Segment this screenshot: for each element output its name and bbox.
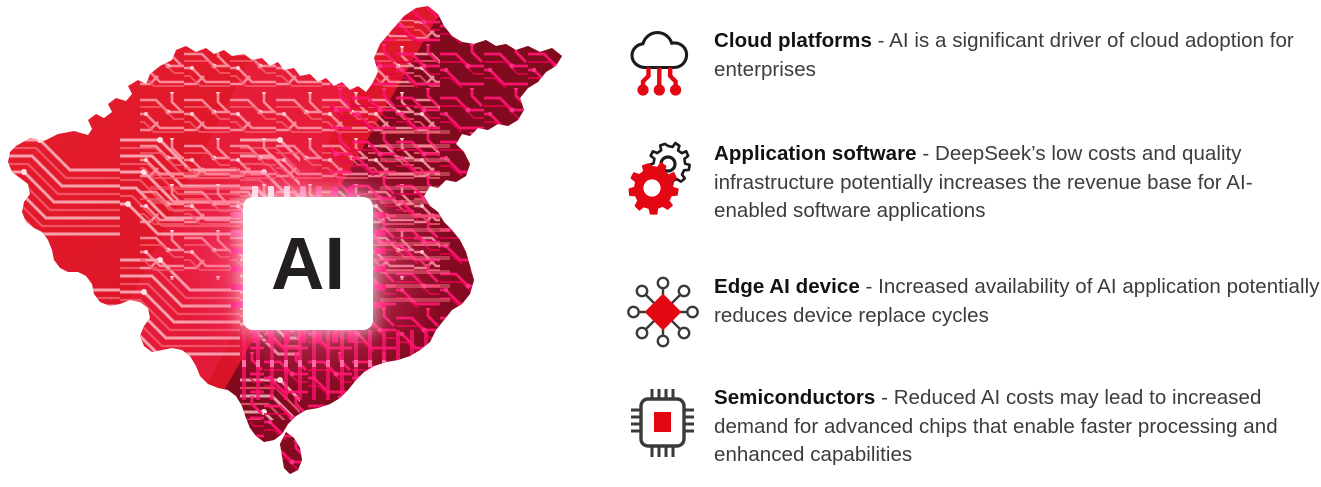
edge-node-diamond-icon: [624, 274, 702, 350]
microchip-icon-wrap: [612, 383, 714, 461]
list-item-application-software: Application software - DeepSeek’s low co…: [612, 139, 1321, 226]
list-item-semiconductors: Semiconductors - Reduced AI costs may le…: [612, 383, 1321, 470]
cloud-network-icon-wrap: [612, 26, 714, 101]
list-item-separator: -: [860, 275, 878, 298]
gears-icon: [622, 140, 704, 218]
list-item-text: Semiconductors - Reduced AI costs may le…: [714, 383, 1321, 470]
list-item-separator: -: [875, 386, 893, 409]
list-item-text: Cloud platforms - AI is a significant dr…: [714, 26, 1321, 84]
edge-node-diamond-icon-wrap: [612, 272, 714, 350]
list-item-separator: -: [872, 29, 889, 52]
list-item-separator: -: [917, 142, 935, 165]
slide-root: AI: [0, 0, 1321, 487]
ai-chip-badge: AI: [243, 197, 373, 330]
gears-icon-wrap: [612, 139, 714, 218]
list-item-title: Application software: [714, 142, 917, 165]
list-item-edge-ai-device: Edge AI device - Increased availability …: [612, 272, 1321, 350]
list-item-cloud-platforms: Cloud platforms - AI is a significant dr…: [612, 26, 1321, 101]
list-item-text: Application software - DeepSeek’s low co…: [714, 139, 1321, 226]
china-ai-map-graphic: AI: [0, 0, 600, 487]
cloud-network-icon: [626, 29, 700, 101]
list-item-title: Semiconductors: [714, 386, 875, 409]
list-item-title: Cloud platforms: [714, 29, 872, 52]
list-item-title: Edge AI device: [714, 275, 860, 298]
impact-areas-list: Cloud platforms - AI is a significant dr…: [612, 0, 1321, 487]
list-item-text: Edge AI device - Increased availability …: [714, 272, 1321, 330]
microchip-icon: [628, 385, 698, 461]
ai-chip-label: AI: [271, 227, 345, 301]
